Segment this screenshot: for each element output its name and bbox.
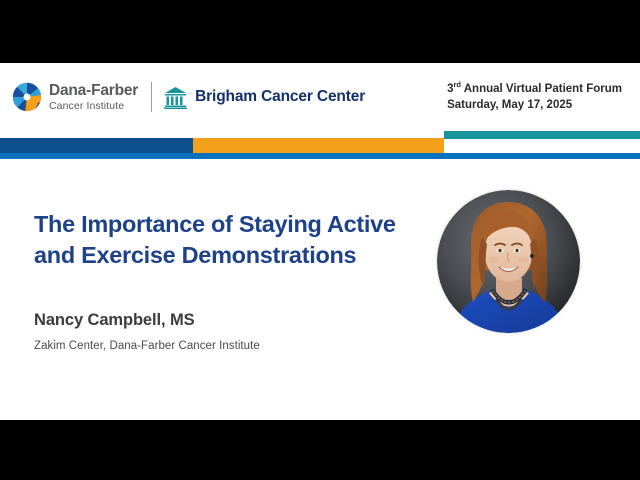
event-title-ordinal-suffix: rd xyxy=(453,80,461,89)
brand-rule-band xyxy=(0,131,640,161)
presentation-slide: Dana-Farber Cancer Institute xyxy=(0,63,640,420)
rule-bar-teal xyxy=(444,131,640,139)
slide-title: The Importance of Staying Active and Exe… xyxy=(34,209,409,271)
event-title: 3rd Annual Virtual Patient Forum xyxy=(447,81,622,97)
event-date: Saturday, May 17, 2025 xyxy=(447,97,622,113)
event-info: 3rd Annual Virtual Patient Forum Saturda… xyxy=(447,81,622,114)
dana-farber-wordmark: Dana-Farber Cancer Institute xyxy=(49,83,138,111)
rule-bar-navy xyxy=(0,138,193,153)
video-frame: Dana-Farber Cancer Institute xyxy=(0,0,640,480)
rule-bar-blue xyxy=(0,153,640,159)
logo-divider xyxy=(151,82,152,112)
dana-farber-name: Dana-Farber xyxy=(49,83,138,99)
letterbox-top xyxy=(0,0,640,63)
event-title-text: Annual Virtual Patient Forum xyxy=(461,83,622,95)
speaker-portrait-avatar xyxy=(437,190,580,333)
letterbox-bottom xyxy=(0,420,640,480)
dana-farber-circle-mark-icon xyxy=(12,82,42,112)
speaker-name: Nancy Campbell, MS xyxy=(34,311,195,330)
slide-body: The Importance of Staying Active and Exe… xyxy=(0,161,640,420)
slide-header: Dana-Farber Cancer Institute xyxy=(0,63,640,131)
logo-lockup: Dana-Farber Cancer Institute xyxy=(12,79,365,115)
brigham-building-mark-icon xyxy=(163,85,188,110)
speaker-affiliation: Zakim Center, Dana-Farber Cancer Institu… xyxy=(34,340,260,352)
dana-farber-subname: Cancer Institute xyxy=(49,101,138,112)
rule-bar-orange xyxy=(193,138,444,153)
brigham-wordmark: Brigham Cancer Center xyxy=(195,88,365,106)
